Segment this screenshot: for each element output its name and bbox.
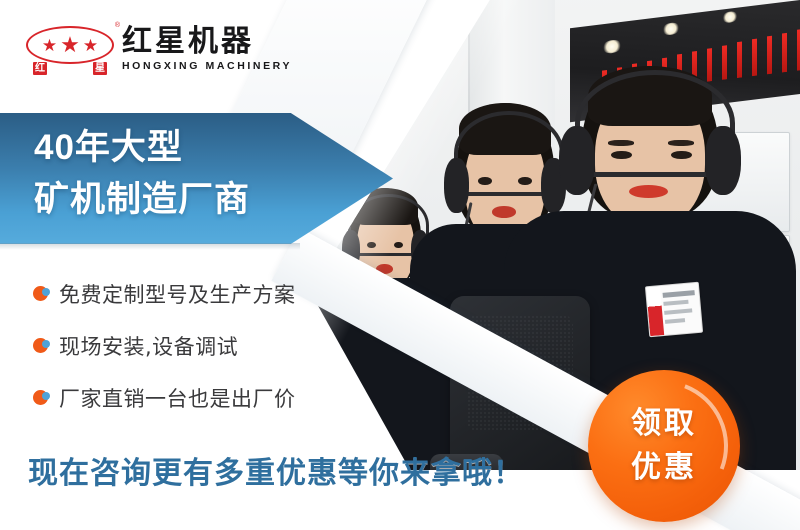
logo-subtext: 红 星 (33, 62, 107, 75)
headline-line-2: 矿机制造厂商 (34, 174, 364, 226)
logo-oval: ★ ★ ★ (26, 26, 114, 64)
claim-discount-button[interactable]: 领取 优惠 (588, 370, 740, 522)
ceiling-light-icon (662, 21, 680, 35)
star-icon: ★ (83, 37, 98, 54)
banner-shadow (0, 243, 300, 250)
list-item: 免费定制型号及生产方案 (33, 268, 296, 320)
chair-mesh (467, 315, 573, 432)
headset-earcup-icon (444, 158, 469, 213)
ceiling-light-icon (722, 10, 738, 23)
brand-name-cn: 红星机器 (122, 26, 292, 58)
bullet-dot-icon (33, 337, 59, 355)
brand-name-en: HONGXING MACHINERY (122, 59, 292, 73)
headset-earcup-icon (705, 126, 741, 195)
registered-mark: ® (115, 22, 120, 29)
brand-logo[interactable]: ★ ★ ★ ® 红 星 红星机器 HONGXING MACHINERY (26, 22, 292, 76)
star-icon: ★ (60, 34, 80, 56)
feature-list: 免费定制型号及生产方案 现场安装,设备调试 厂家直销一台也是出厂价 (33, 268, 296, 424)
star-icon: ★ (42, 37, 57, 54)
headset-earcup-icon (559, 126, 595, 195)
lips (376, 264, 393, 274)
bullet-dot-icon (33, 389, 59, 407)
bullet-dot-icon (33, 285, 59, 303)
list-item: 厂家直销一台也是出厂价 (33, 372, 296, 424)
promo-slogan: 现在咨询更有多重优惠等你来拿哦！ (28, 448, 524, 492)
brand-name-block: 红星机器 HONGXING MACHINERY (122, 26, 292, 73)
cta-line-2: 优惠 (631, 446, 697, 490)
lips (492, 206, 517, 218)
list-item-label: 现场安装,设备调试 (59, 331, 238, 361)
id-badge (645, 282, 703, 337)
promo-banner: ★ ★ ★ ® 红 星 红星机器 HONGXING MACHINERY 40年大… (0, 0, 800, 530)
list-item-label: 免费定制型号及生产方案 (59, 279, 296, 309)
office-agents-photo (300, 0, 800, 470)
logo-sub-left: 红 (33, 62, 47, 75)
logo-sub-right: 星 (93, 62, 107, 75)
cta-line-1: 领取 (631, 402, 697, 446)
lips (629, 185, 668, 198)
list-item-label: 厂家直销一台也是出厂价 (59, 383, 296, 413)
office-chair (450, 296, 590, 470)
list-item: 现场安装,设备调试 (33, 320, 296, 372)
three-stars-oval-logo-icon: ★ ★ ★ ® 红 星 (26, 22, 114, 76)
headline-line-1: 40年大型 (34, 122, 364, 174)
headline: 40年大型 矿机制造厂商 (34, 122, 364, 226)
